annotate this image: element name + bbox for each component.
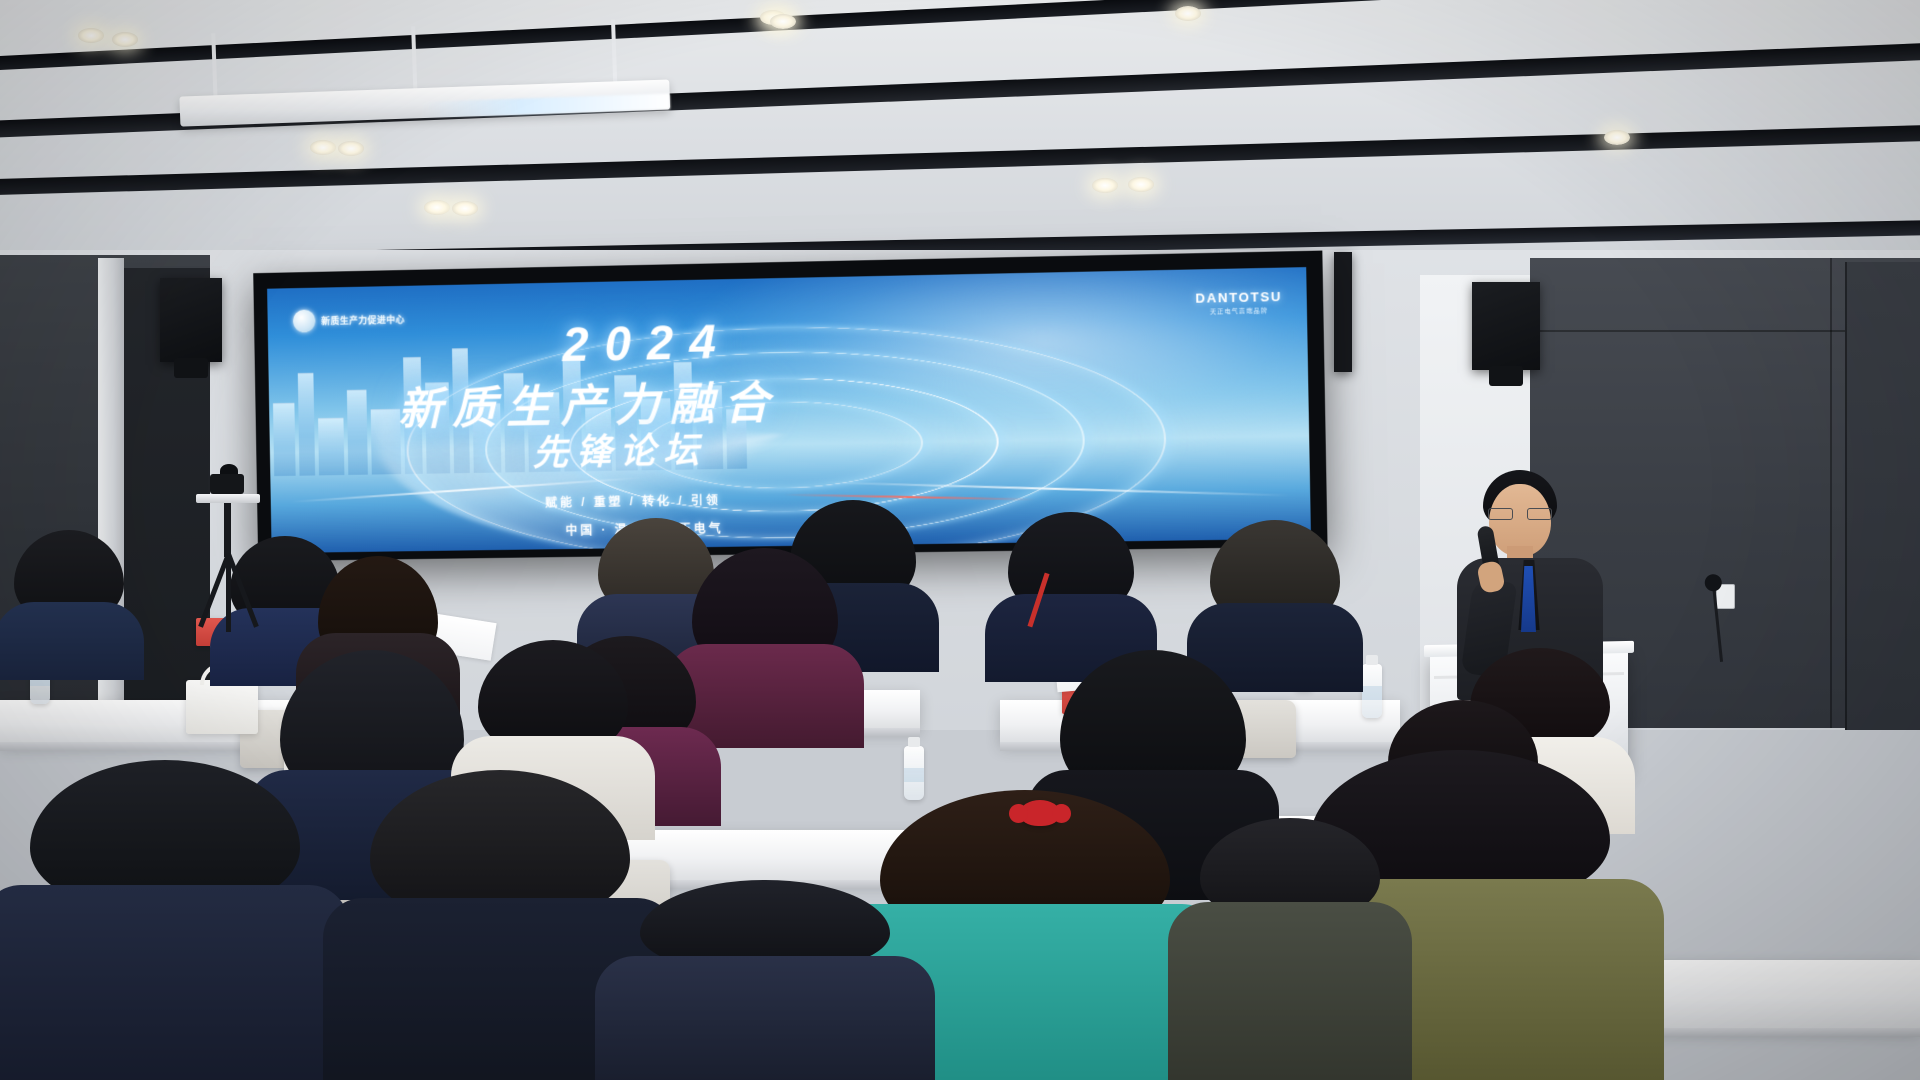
organizer-emblem-icon [293,309,316,332]
ceiling-spotlight [452,201,478,216]
ceiling-spotlight [1128,177,1154,192]
screen-year: 2024 [562,315,732,373]
wall-speaker [1472,282,1540,370]
ceiling-spotlight [1092,178,1118,193]
screen-logo-left: 新质生产力促进中心 [293,308,405,333]
glasses-icon [1488,508,1552,520]
wall-speaker-column [1334,252,1352,372]
brand-name: DANTOTSU [1195,289,1282,306]
attendee [640,880,890,1080]
pendant-light-fixture [179,79,670,138]
ceiling-spotlight [1604,130,1630,145]
screen-logo-right: DANTOTSU 天正电气高端品牌 [1195,289,1282,316]
attendee [370,770,630,1080]
screen-keywords: 赋能 / 重塑 / 转化 / 引领 [545,491,721,511]
screen-title-sub: 先锋论坛 [532,421,707,476]
ceiling-spotlight [1175,6,1201,21]
video-camera [210,474,244,494]
organizer-name: 新质生产力促进中心 [321,313,405,328]
right-wall-panel-far [1845,262,1920,730]
ceiling-spotlight [770,14,796,29]
attendee [30,760,300,1080]
ceiling-spotlight [338,141,364,156]
brand-subtitle: 天正电气高端品牌 [1196,305,1283,316]
ceiling-spotlight [424,200,450,215]
tote-bag [186,680,258,734]
attendee [1200,818,1380,1080]
ceiling-spotlight [78,28,104,43]
ceiling-spotlight [112,32,138,47]
hair-bow [1020,800,1060,826]
attendee [14,530,124,680]
attendee [692,548,838,748]
video-camera-tripod [196,478,260,628]
water-bottle [1362,664,1382,718]
wall-speaker [160,278,222,362]
conference-hall-photo: 新质生产力促进中心 DANTOTSU 天正电气高端品牌 2024 新质生产力融合… [0,0,1920,1080]
ceiling-spotlight [310,140,336,155]
